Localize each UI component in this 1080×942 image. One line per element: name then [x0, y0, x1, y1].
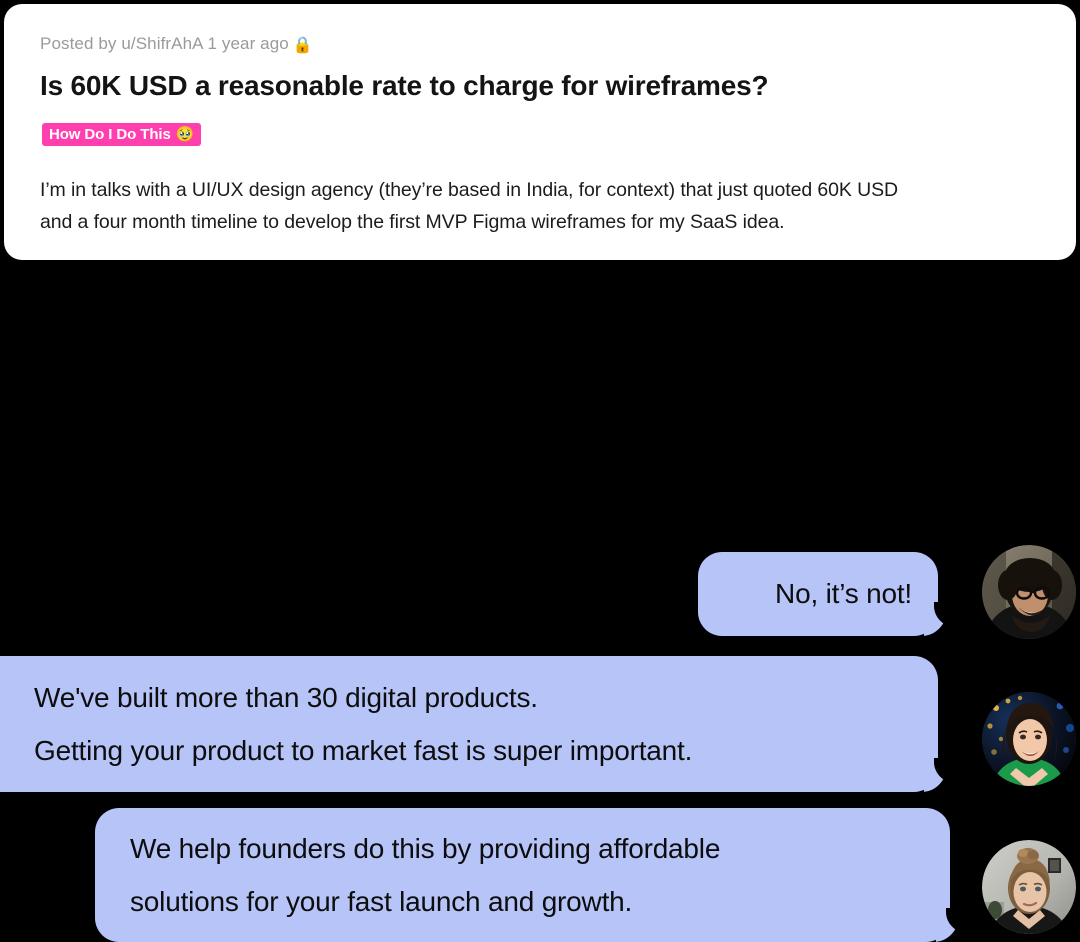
post-body-line: and a four month timeline to develop the… [40, 206, 1052, 238]
avatar-woman-green-top [982, 692, 1076, 786]
chat-bubble-line: solutions for your fast launch and growt… [130, 875, 915, 928]
reddit-post-card: Posted by u/ShifrAhA 1 year ago🔒 Is 60K … [4, 4, 1076, 260]
chat-bubble: We help founders do this by providing af… [95, 808, 950, 942]
chat-bubble-tail [924, 602, 964, 636]
chat-bubble-line: Getting your product to market fast is s… [34, 724, 878, 777]
chat-bubble-line: We help founders do this by providing af… [130, 822, 915, 875]
chat-conversation: No, it’s not! [0, 260, 1080, 678]
post-byline: Posted by u/ShifrAhA 1 year ago🔒 [40, 34, 313, 55]
post-flair-label: How Do I Do This [49, 127, 171, 142]
chat-bubble-tail [936, 908, 976, 942]
pleading-face-icon: 🥹 [176, 127, 195, 142]
lock-icon: 🔒 [293, 35, 313, 55]
chat-bubble-tail [924, 758, 964, 792]
chat-bubble: No, it’s not! [698, 552, 938, 636]
post-body: I’m in talks with a UI/UX design agency … [40, 174, 1052, 238]
chat-bubble-line: No, it’s not! [775, 577, 912, 611]
post-title: Is 60K USD a reasonable rate to charge f… [40, 70, 768, 102]
post-byline-text: Posted by u/ShifrAhA 1 year ago [40, 34, 289, 53]
chat-bubble-line: We've built more than 30 digital product… [34, 671, 878, 724]
avatar-woman-top-bun [982, 840, 1076, 934]
post-body-line: I’m in talks with a UI/UX design agency … [40, 174, 1052, 206]
avatar-man-glasses-beard [982, 545, 1076, 639]
chat-bubble: We've built more than 30 digital product… [0, 656, 938, 792]
post-flair-badge[interactable]: How Do I Do This 🥹 [42, 123, 201, 146]
